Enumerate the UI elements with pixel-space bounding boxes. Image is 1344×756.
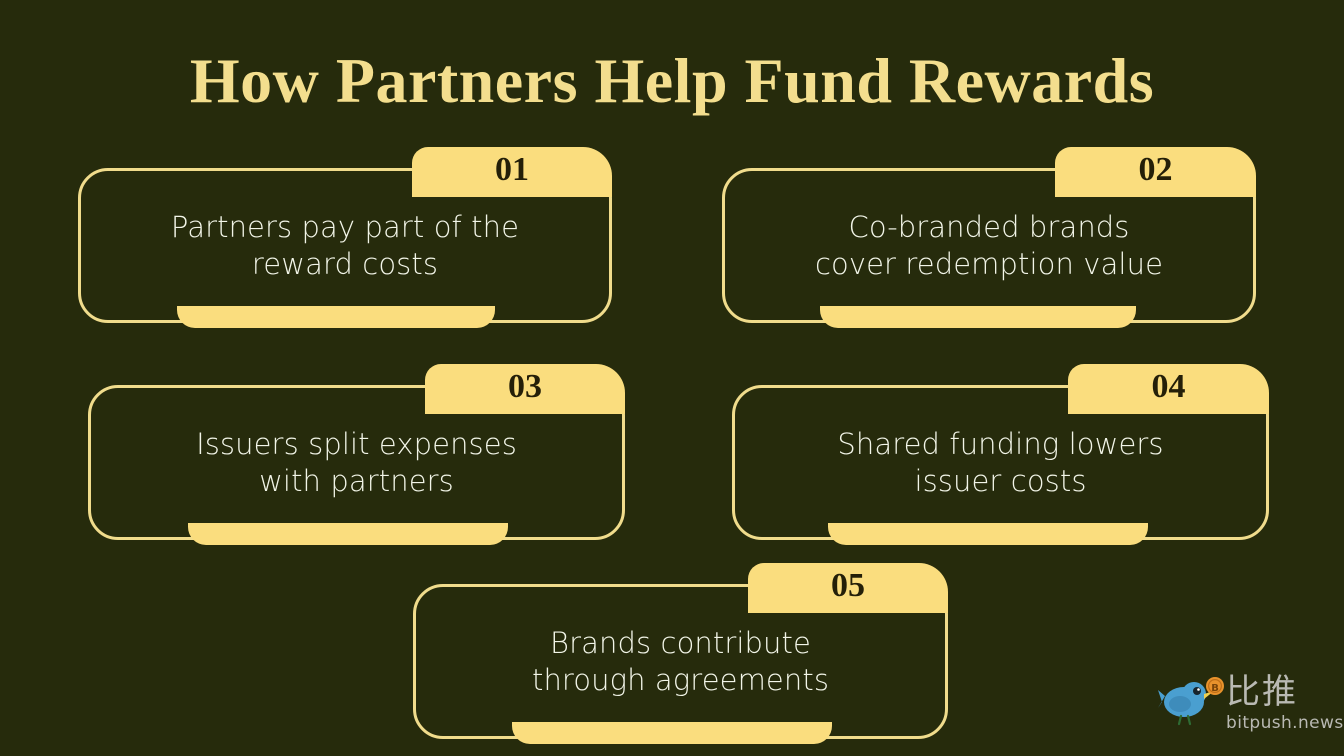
card-02-bottom-tab — [820, 306, 1136, 328]
card-05-number-badge: 05 — [748, 563, 948, 613]
card-01-text: Partners pay part of the reward costs — [107, 209, 583, 283]
card-03-line1: Issuers split expenses — [117, 426, 596, 463]
card-02-text: Co-branded brands cover redemption value — [751, 209, 1227, 283]
card-03-bottom-tab — [188, 523, 508, 545]
card-01-number-badge: 01 — [412, 147, 612, 197]
card-05-bottom-tab — [512, 722, 832, 744]
card-01-line2: reward costs — [107, 246, 583, 283]
card-02-line1: Co-branded brands — [751, 209, 1227, 246]
card-03-number-badge: 03 — [425, 364, 625, 414]
card-02-number-badge: 02 — [1055, 147, 1256, 197]
infographic-canvas: How Partners Help Fund Rewards Partners … — [0, 0, 1344, 756]
card-05-line1: Brands contribute — [442, 625, 919, 662]
card-01-bottom-tab — [177, 306, 495, 328]
page-title: How Partners Help Fund Rewards — [0, 44, 1344, 118]
watermark-brand-cn: 比推 — [1226, 672, 1298, 712]
card-02-line2: cover redemption value — [751, 246, 1227, 283]
card-05-text: Brands contribute through agreements — [442, 625, 919, 699]
card-05-line2: through agreements — [442, 662, 919, 699]
card-03-line2: with partners — [117, 463, 596, 500]
bird-icon: B — [1158, 674, 1224, 726]
svg-text:B: B — [1211, 683, 1219, 694]
watermark: B 比推 bitpush.news — [1158, 672, 1338, 748]
card-04-bottom-tab — [828, 523, 1148, 545]
watermark-url: bitpush.news — [1226, 713, 1344, 733]
card-04-line2: issuer costs — [761, 463, 1240, 500]
card-03-text: Issuers split expenses with partners — [117, 426, 596, 500]
card-04-line1: Shared funding lowers — [761, 426, 1240, 463]
card-04-text: Shared funding lowers issuer costs — [761, 426, 1240, 500]
card-04-number-badge: 04 — [1068, 364, 1269, 414]
card-01-line1: Partners pay part of the — [107, 209, 583, 246]
